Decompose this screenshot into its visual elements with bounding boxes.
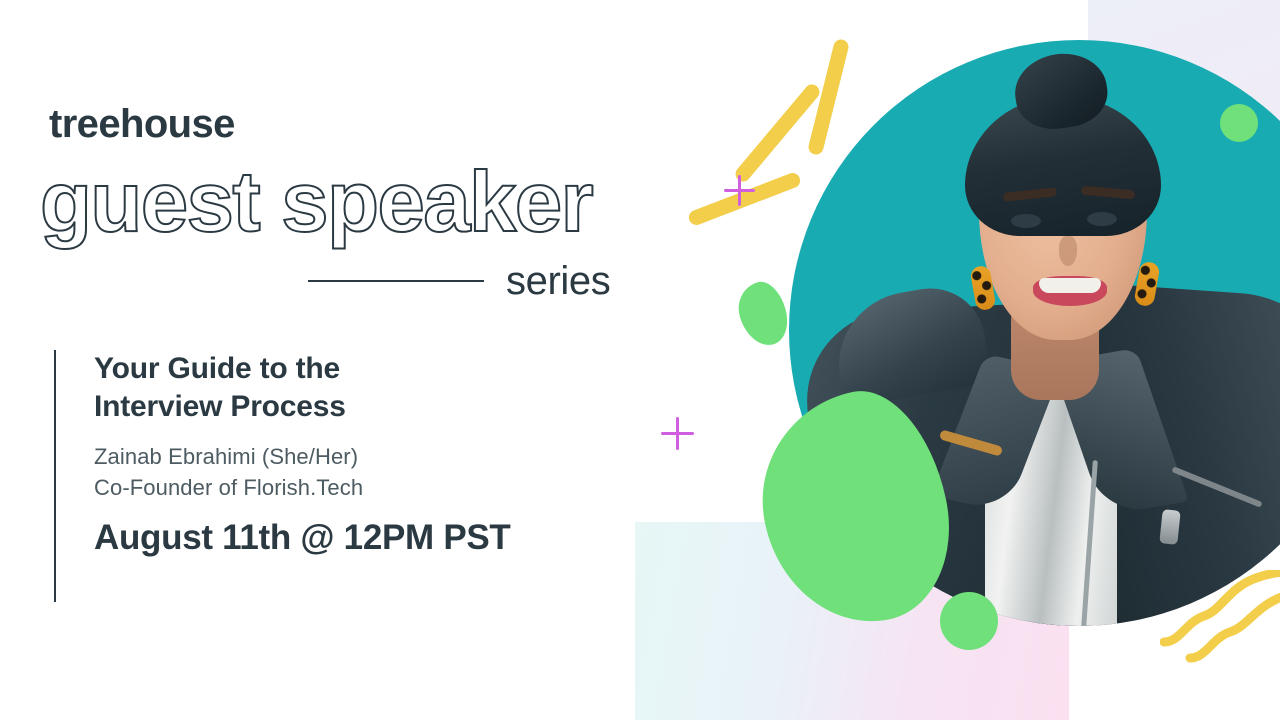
headline-outline-text: guest speaker xyxy=(40,160,592,245)
talk-title: Your Guide to the Interview Process xyxy=(94,350,511,427)
event-datetime: August 11th @ 12PM PST xyxy=(94,519,511,558)
green-circle xyxy=(940,592,998,650)
speaker-role: Co-Founder of Florish.Tech xyxy=(94,472,511,503)
series-divider-rule xyxy=(308,280,484,282)
cross-bar-vertical xyxy=(738,175,741,206)
jacket-zipper-pull xyxy=(1159,509,1180,545)
eye-left xyxy=(1011,214,1041,228)
nose xyxy=(1059,236,1077,266)
content-column: treehouse guest speaker series Your Guid… xyxy=(0,0,680,720)
teeth xyxy=(1039,278,1101,293)
talk-title-line-2: Interview Process xyxy=(94,390,346,423)
talk-title-line-1: Your Guide to the xyxy=(94,352,340,385)
event-details-block: Your Guide to the Interview Process Zain… xyxy=(54,350,511,602)
magenta-cross-icon xyxy=(724,175,755,206)
eye-right xyxy=(1087,212,1117,226)
green-blob-small xyxy=(732,277,794,351)
brand-wordmark: treehouse xyxy=(49,104,235,144)
slide-canvas: treehouse guest speaker series Your Guid… xyxy=(0,0,1280,720)
series-row: series xyxy=(308,256,626,306)
series-label: series xyxy=(506,261,610,301)
yellow-wave-lines-icon xyxy=(1160,570,1280,680)
speaker-name: Zainab Ebrahimi (She/Her) xyxy=(94,441,511,472)
